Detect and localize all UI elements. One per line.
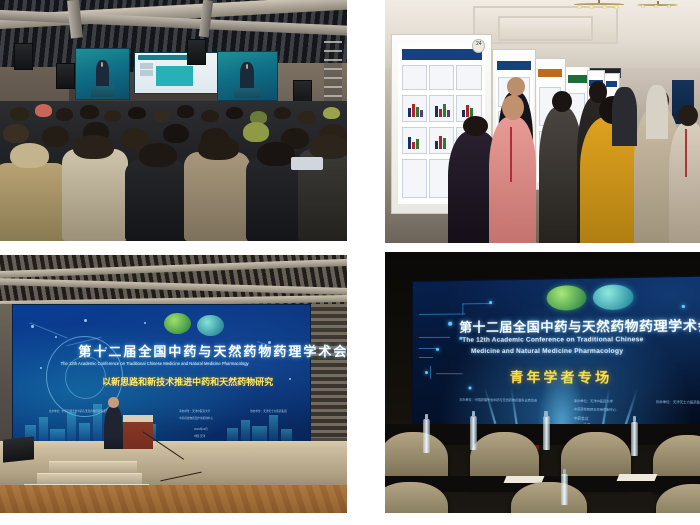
speaker-silhouette — [240, 62, 254, 89]
podium-on-screen — [234, 88, 260, 99]
chandelier-icon — [574, 0, 624, 9]
paper-sheet — [617, 474, 658, 481]
poster-image-panel — [402, 159, 427, 197]
photo-youth-session: 第十二届全国中药与天然药物药理学术会议 The 12th Academic Co… — [385, 252, 700, 513]
screen-title-en-line1: The 12th Academic Conference on Traditio… — [462, 335, 643, 343]
banner-place: 中国·天津 — [194, 434, 205, 438]
water-bottle — [631, 422, 638, 456]
poster-text-block — [456, 65, 482, 91]
water-bottle — [543, 416, 550, 450]
teal-swirl-logo-icon — [197, 315, 224, 336]
attendee-far — [612, 87, 637, 145]
photo-poster-session: 24 — [385, 0, 700, 243]
slide-figure — [156, 66, 193, 85]
projection-screen-left — [75, 48, 131, 100]
poster-chart-panel — [402, 127, 427, 154]
speaker-head — [101, 62, 103, 66]
banner-title-en: The 12th Academic Conference on Traditio… — [61, 361, 249, 366]
photo-plenary-session — [0, 0, 347, 241]
speaker-head — [246, 64, 248, 68]
water-bottle — [423, 419, 430, 453]
attendee-far — [646, 85, 668, 138]
banner-org-left: 主办单位：中国药理学会中药与天然药物药理专业委员会 — [49, 409, 114, 413]
podium-on-screen — [91, 86, 115, 97]
poster-title-bar — [402, 49, 482, 60]
city-skyline-graphic — [19, 397, 304, 445]
chandelier-icon — [637, 1, 678, 8]
projection-screen-right — [217, 51, 278, 102]
poster-number-badge: 24 — [472, 39, 485, 53]
wood-floor — [0, 485, 347, 513]
poster-chart-panel — [402, 95, 427, 122]
water-bottle — [470, 416, 477, 450]
ceiling-beam — [67, 0, 83, 39]
banner-subtitle-cn: 以新思路和新技术推进中药和天然药物研究 — [102, 375, 273, 388]
green-leaf-logo-icon — [164, 313, 191, 334]
screen-org-mid2: 中药药效物质及作用机制中心 — [574, 406, 616, 411]
green-leaf-logo-icon — [546, 285, 586, 311]
speaker-stack-icon — [187, 39, 206, 66]
poster-chart-panel — [429, 127, 454, 154]
poster-text-block — [429, 65, 454, 91]
led-screen: 第十二届全国中药与天然药物药理学术会议 The 12th Academic Co… — [412, 275, 700, 433]
screen-org-right: 协办单位：天津天士力医药集团 — [656, 400, 700, 405]
photo-collage: 24 — [0, 0, 700, 525]
photo-opening-stage: 第十二届全国中药与天然药物药理学术会议 The 12th Academic Co… — [0, 255, 347, 513]
ceiling-coffer — [498, 16, 593, 41]
attendee-presenter — [489, 117, 536, 243]
water-bottle — [561, 474, 568, 505]
banner-title-cn: 第十二届全国中药与天然药物药理学术会议 — [78, 341, 347, 360]
banner-org-mid: 承办单位：天津中医药大学 — [179, 409, 210, 413]
attendee — [669, 122, 700, 244]
screen-watermark: 中药会议 — [574, 415, 589, 420]
screen-title-cn: 第十二届全国中药与天然药物药理学术会议 — [459, 313, 700, 335]
teal-swirl-logo-icon — [592, 284, 633, 310]
poster-text-block — [402, 65, 427, 91]
banner-org-mid2: 中药药效物质及作用机制中心 — [179, 416, 213, 420]
screen-org-left: 主办单位：中国药理学会中药与天然药物药理专业委员会 — [459, 398, 537, 403]
speaker-stack-icon — [56, 63, 75, 90]
audience-crowd — [0, 101, 347, 241]
led-backdrop: 第十二届全国中药与天然药物药理学术会议 The 12th Academic Co… — [12, 304, 310, 446]
hall-ceiling — [0, 255, 347, 309]
banner-date: 2019年10月 — [194, 427, 208, 431]
speaker-stack-icon — [14, 43, 33, 70]
screen-org-mid: 承办单位：天津中医药大学 — [574, 399, 613, 404]
banner-org-right: 协办单位：天津天士力医药集团 — [250, 409, 286, 413]
slide-text-line — [140, 73, 153, 76]
tablet-screen — [291, 157, 322, 170]
speaker-silhouette — [96, 60, 109, 88]
screen-title-en-line2: Medicine and Natural Medicine Pharmacolo… — [471, 348, 623, 355]
stage-floor-monitor — [3, 437, 34, 464]
poster-chart-panel — [429, 95, 454, 122]
